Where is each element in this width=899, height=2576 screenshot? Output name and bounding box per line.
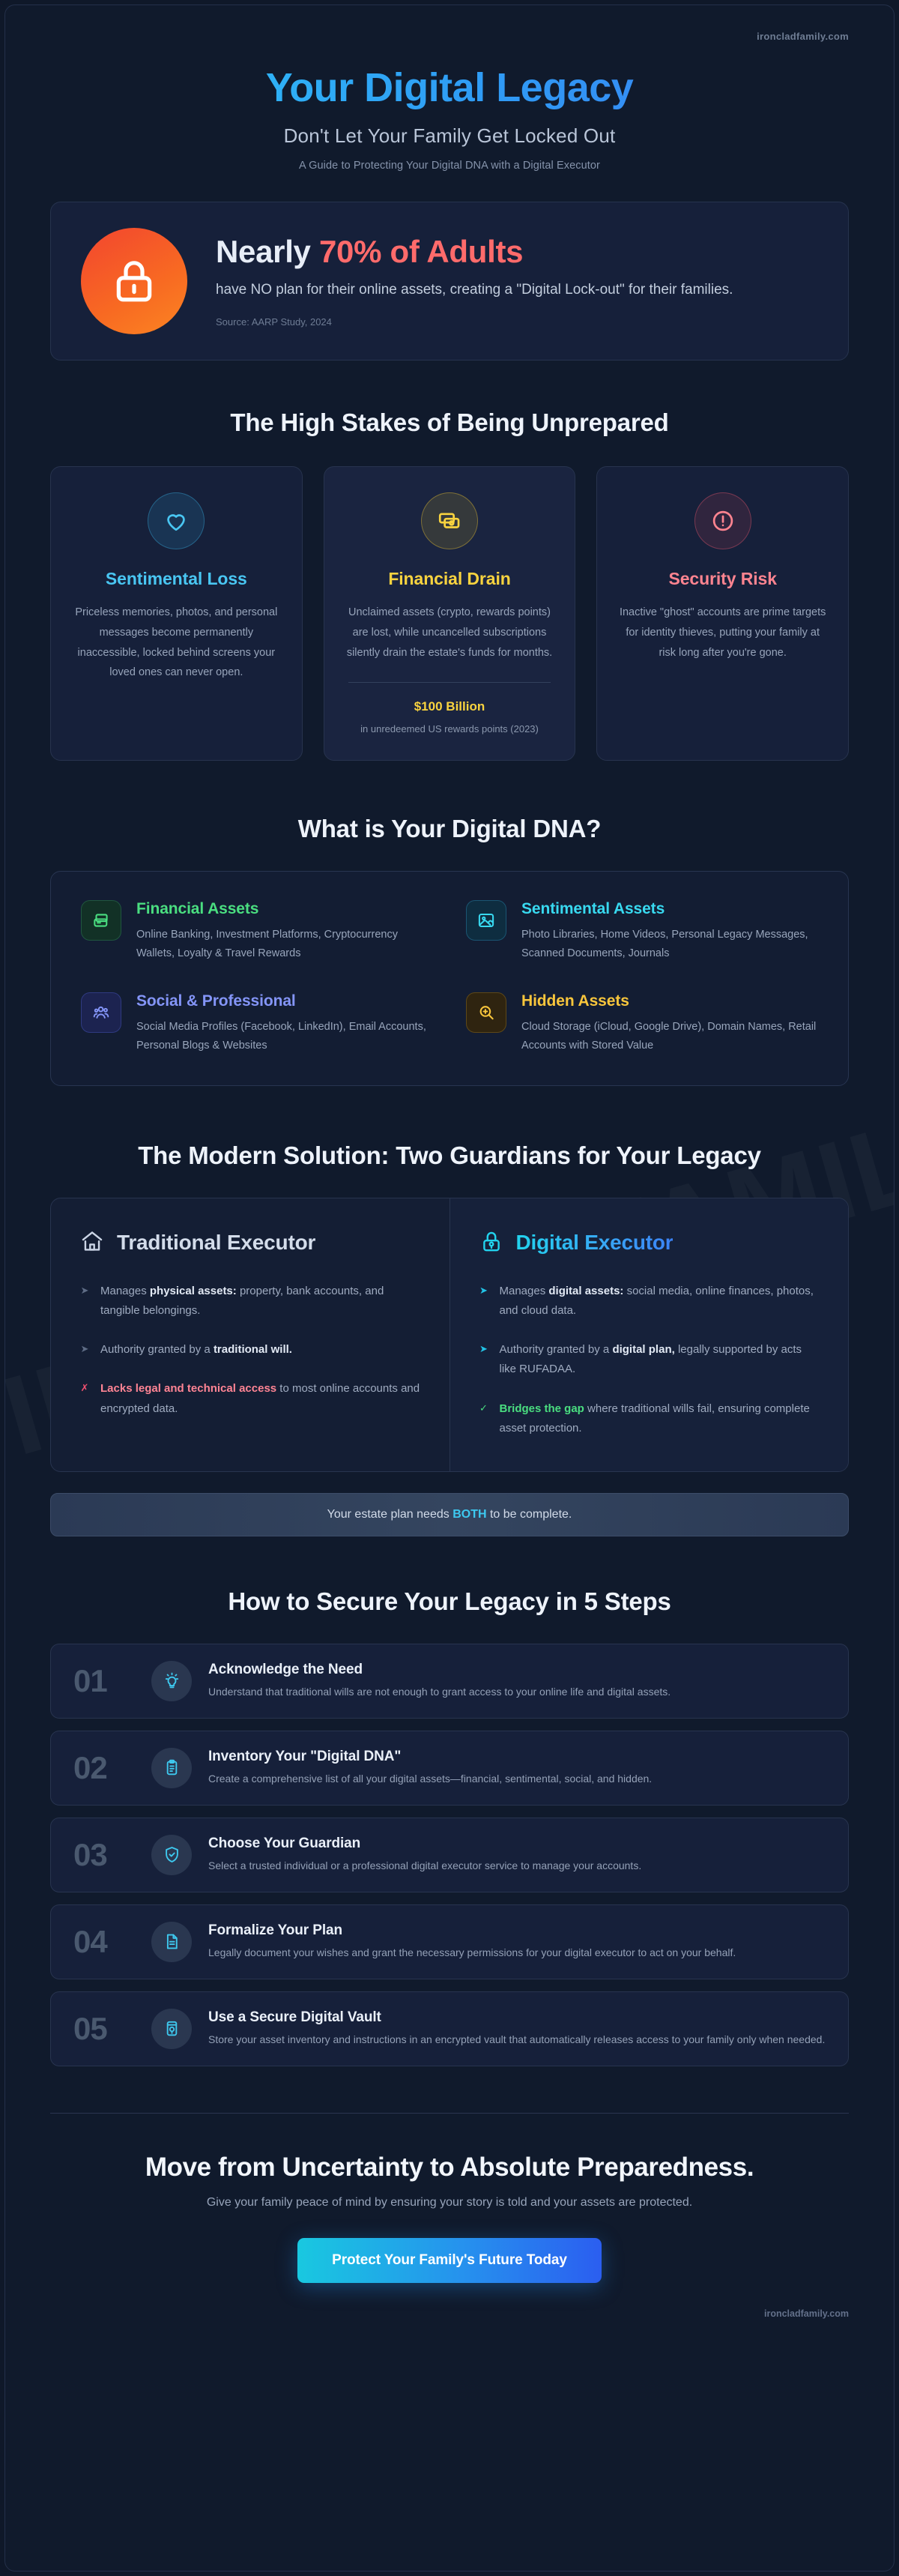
infographic-frame: IRONCLADFAMILY.COM ironcladfamily.com Yo… (4, 4, 895, 2572)
risk-card-security: Security Risk Inactive "ghost" accounts … (596, 466, 849, 761)
cta-button[interactable]: Protect Your Family's Future Today (297, 2238, 602, 2283)
dna-item-hidden: Hidden Assets Cloud Storage (iCloud, Goo… (466, 992, 818, 1055)
step-desc: Store your asset inventory and instructi… (208, 2031, 826, 2049)
step-title: Use a Secure Digital Vault (208, 2009, 826, 2026)
risk-desc: Inactive "ghost" accounts are prime targ… (617, 603, 829, 663)
check-icon: ✓ (479, 1403, 489, 1413)
solution-heading: The Modern Solution: Two Guardians for Y… (120, 1140, 779, 1172)
traditional-executor-title: Traditional Executor (117, 1231, 315, 1255)
home-icon (79, 1228, 105, 1258)
traditional-executor-points: ➤ Manages physical assets: property, ban… (79, 1282, 421, 1419)
site-url-top: ironcladfamily.com (50, 5, 849, 42)
hero-stat-source: Source: AARP Study, 2024 (216, 316, 818, 328)
dna-title: Hidden Assets (521, 992, 818, 1010)
digital-executor-title: Digital Executor (516, 1231, 674, 1255)
step-number: 02 (73, 1750, 135, 1786)
steps-list: 01 Acknowledge the Need Understand that (50, 1644, 849, 2066)
risk-card-sentimental: Sentimental Loss Priceless memories, pho… (50, 466, 303, 761)
dna-title: Social & Professional (136, 992, 433, 1010)
point-strong: digital assets: (548, 1285, 623, 1297)
chevron-right-icon: ➤ (479, 1344, 489, 1354)
both-required-banner: Your estate plan needs BOTH to be comple… (50, 1493, 849, 1536)
risk-figure: $100 Billion (344, 699, 556, 714)
dna-desc: Social Media Profiles (Facebook, LinkedI… (136, 1018, 433, 1055)
point-strong: Lacks legal and technical access (100, 1382, 276, 1395)
photo-icon (466, 900, 506, 941)
infographic-page: IRONCLADFAMILY.COM ironcladfamily.com Yo… (0, 0, 899, 2576)
traditional-executor-column: Traditional Executor ➤ Manages physical … (51, 1198, 449, 1472)
page-subtitle: Don't Let Your Family Get Locked Out (50, 124, 849, 148)
hero-stat-prefix: Nearly (216, 234, 319, 269)
vault-icon (151, 2009, 192, 2049)
step-item-02: 02 Inventory Your "Digital DNA" Create a… (50, 1731, 849, 1806)
risk-card-financial: Financial Drain Unclaimed assets (crypto… (324, 466, 576, 761)
step-title: Acknowledge the Need (208, 1662, 826, 1678)
site-url-bottom: ironcladfamily.com (5, 2308, 894, 2338)
hero-stat-card: Nearly 70% of Adults have NO plan for th… (50, 202, 849, 361)
banknotes-icon (421, 492, 478, 549)
stakes-card-row: Sentimental Loss Priceless memories, pho… (50, 466, 849, 761)
risk-desc: Unclaimed assets (crypto, rewards points… (344, 603, 556, 663)
shield-check-icon (151, 1835, 192, 1875)
steps-heading: How to Secure Your Legacy in 5 Steps (50, 1586, 849, 1618)
users-group-icon (81, 992, 121, 1033)
hero-stat-line: Nearly 70% of Adults (216, 235, 818, 269)
list-item: ➤ Authority granted by a traditional wil… (79, 1340, 421, 1360)
hero-stat-text: have NO plan for their online assets, cr… (216, 280, 785, 301)
step-title: Inventory Your "Digital DNA" (208, 1749, 826, 1765)
banknotes-icon (81, 900, 121, 941)
banner-suffix: to be complete. (487, 1508, 572, 1521)
step-desc: Select a trusted individual or a profess… (208, 1857, 826, 1875)
dna-heading: What is Your Digital DNA? (50, 813, 849, 845)
page-header: Your Digital Legacy Don't Let Your Famil… (50, 42, 849, 172)
dna-item-financial: Financial Assets Online Banking, Investm… (81, 900, 433, 962)
dna-desc: Cloud Storage (iCloud, Google Drive), Do… (521, 1018, 818, 1055)
risk-desc: Priceless memories, photos, and personal… (70, 603, 282, 683)
banner-prefix: Your estate plan needs (327, 1508, 453, 1521)
executor-comparison-panel: Traditional Executor ➤ Manages physical … (50, 1198, 849, 1473)
dna-desc: Online Banking, Investment Platforms, Cr… (136, 926, 433, 962)
point-lead: Authority granted by a (500, 1343, 613, 1356)
digital-executor-column: Digital Executor ➤ Manages digital asset… (449, 1198, 849, 1472)
step-number: 05 (73, 2011, 135, 2047)
chevron-right-icon: ➤ (479, 1285, 489, 1295)
point-strong: traditional will. (214, 1343, 292, 1356)
step-desc: Understand that traditional wills are no… (208, 1683, 826, 1701)
step-number: 03 (73, 1837, 135, 1873)
risk-title: Security Risk (617, 569, 829, 589)
cta-title: Move from Uncertainty to Absolute Prepar… (50, 2153, 849, 2183)
step-number: 01 (73, 1663, 135, 1699)
risk-figure-sub: in unredeemed US rewards points (2023) (344, 722, 556, 737)
cta-subtitle: Give your family peace of mind by ensuri… (50, 2196, 849, 2209)
point-strong: physical assets: (150, 1285, 237, 1297)
digital-executor-points: ➤ Manages digital assets: social media, … (479, 1282, 820, 1439)
step-number: 04 (73, 1924, 135, 1960)
cta-section: Move from Uncertainty to Absolute Prepar… (50, 2114, 849, 2283)
page-tagline: A Guide to Protecting Your Digital DNA w… (50, 160, 849, 172)
step-desc: Legally document your wishes and grant t… (208, 1944, 826, 1962)
point-lead: Manages (500, 1285, 549, 1297)
point-lead: Authority granted by a (100, 1343, 214, 1356)
point-strong: digital plan, (612, 1343, 674, 1356)
dna-title: Financial Assets (136, 900, 433, 918)
lightbulb-icon (151, 1661, 192, 1701)
chevron-right-icon: ➤ (79, 1285, 90, 1295)
dna-item-social: Social & Professional Social Media Profi… (81, 992, 433, 1055)
dna-desc: Photo Libraries, Home Videos, Personal L… (521, 926, 818, 962)
point-strong: Bridges the gap (500, 1402, 584, 1415)
step-item-03: 03 Choose Your Guardian Select a trusted… (50, 1818, 849, 1892)
point-lead: Manages (100, 1285, 150, 1297)
traditional-executor-header: Traditional Executor (79, 1228, 421, 1258)
banner-strong: BOTH (452, 1508, 486, 1521)
step-title: Formalize Your Plan (208, 1922, 826, 1939)
alert-circle-icon (694, 492, 751, 549)
lock-shield-icon (479, 1228, 504, 1258)
list-item: ➤ Authority granted by a digital plan, l… (479, 1340, 820, 1380)
step-desc: Create a comprehensive list of all your … (208, 1770, 826, 1788)
step-item-01: 01 Acknowledge the Need Understand that (50, 1644, 849, 1719)
document-icon (151, 1922, 192, 1962)
stakes-heading: The High Stakes of Being Unprepared (50, 407, 849, 439)
dna-panel: Financial Assets Online Banking, Investm… (50, 871, 849, 1086)
cross-icon: ✗ (79, 1383, 90, 1393)
dna-item-sentimental: Sentimental Assets Photo Libraries, Home… (466, 900, 818, 962)
risk-title: Sentimental Loss (70, 569, 282, 589)
list-item: ✓ Bridges the gap where traditional will… (479, 1399, 820, 1439)
list-item: ✗ Lacks legal and technical access to mo… (79, 1379, 421, 1419)
list-item: ➤ Manages digital assets: social media, … (479, 1282, 820, 1321)
step-item-05: 05 Use a Secure Digital Vault Store your… (50, 1991, 849, 2066)
hero-stat-value: 70% of Adults (319, 234, 523, 269)
chevron-right-icon: ➤ (79, 1344, 90, 1354)
spacer (50, 2283, 849, 2308)
step-title: Choose Your Guardian (208, 1836, 826, 1852)
list-item: ➤ Manages physical assets: property, ban… (79, 1282, 421, 1321)
dna-title: Sentimental Assets (521, 900, 818, 918)
clipboard-list-icon (151, 1748, 192, 1788)
magnifier-plus-icon (466, 992, 506, 1033)
page-title: Your Digital Legacy (50, 64, 849, 111)
risk-divider (348, 682, 551, 683)
padlock-icon (81, 228, 187, 334)
risk-title: Financial Drain (344, 569, 556, 589)
digital-executor-header: Digital Executor (479, 1228, 820, 1258)
heart-icon (148, 492, 205, 549)
step-item-04: 04 Formalize Your Plan Legally document … (50, 1904, 849, 1979)
